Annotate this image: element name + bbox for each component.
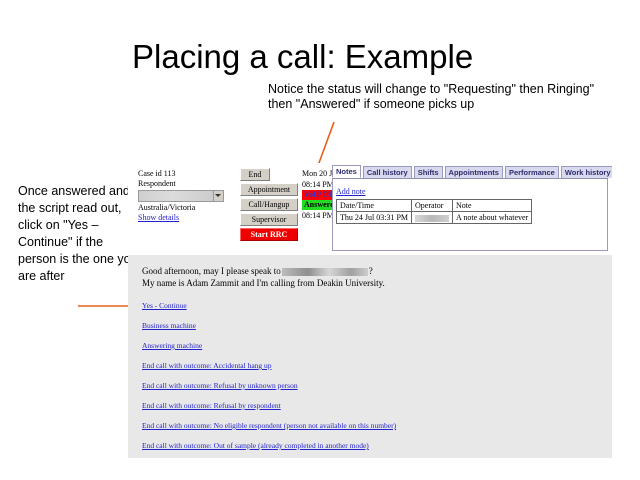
tab-performance[interactable]: Performance	[505, 166, 559, 178]
start-rec-button[interactable]: Start RRC	[240, 228, 298, 241]
show-details-link[interactable]: Show details	[138, 213, 179, 222]
cell-operator	[412, 212, 453, 224]
status-time-2: 08:14 PM	[302, 211, 334, 220]
call-control-buttons: End Appointment Call/Hangup Supervisor S…	[240, 168, 298, 243]
respondent-label: Respondent	[138, 179, 233, 189]
cell-note: A note about whatever	[453, 212, 532, 224]
column-header-datetime: Date/Time	[337, 200, 412, 212]
case-id-label: Case id 113	[138, 169, 233, 179]
redacted-operator	[415, 215, 449, 222]
tab-shifts[interactable]: Shifts	[414, 166, 443, 178]
end-button[interactable]: End	[240, 168, 270, 181]
tab-bar: Notes Call history Shifts Appointments P…	[332, 166, 608, 179]
tab-appointments[interactable]: Appointments	[445, 166, 503, 178]
tab-call-history[interactable]: Call history	[363, 166, 412, 178]
call-hangup-button[interactable]: Call/Hangup	[240, 198, 298, 211]
respondent-select[interactable]	[138, 190, 224, 202]
table-row[interactable]: Thu 24 Jul 03:31 PM A note about whateve…	[337, 212, 532, 224]
link-no-eligible-respondent[interactable]: End call with outcome: No eligible respo…	[142, 421, 396, 430]
appointment-button[interactable]: Appointment	[240, 183, 298, 196]
column-header-note: Note	[453, 200, 532, 212]
notes-panel: Notes Call history Shifts Appointments P…	[332, 166, 608, 252]
screenshot-toolbar-area: Case id 113 Respondent Australia/Victori…	[128, 163, 612, 255]
script-line-1-after: ?	[369, 266, 373, 276]
tab-notes[interactable]: Notes	[332, 165, 361, 178]
outcome-links-list: Yes - Continue Business machine Answerin…	[142, 301, 396, 458]
add-note-link[interactable]: Add note	[336, 187, 366, 196]
script-line-2: My name is Adam Zammit and I'm calling f…	[142, 278, 385, 288]
cell-datetime: Thu 24 Jul 03:31 PM	[337, 212, 412, 224]
annotation-status-change: Notice the status will change to "Reques…	[268, 82, 608, 112]
annotation-yes-continue: Once answered and the script read out, c…	[18, 183, 138, 285]
timezone-label: Australia/Victoria	[138, 203, 233, 213]
status-time-1: 08:14 PM	[302, 180, 334, 189]
script-line-1-before: Good afternoon, may I please speak to	[142, 266, 281, 276]
column-header-operator: Operator	[412, 200, 453, 212]
link-yes-continue[interactable]: Yes - Continue	[142, 301, 396, 310]
link-refusal-respondent[interactable]: End call with outcome: Refusal by respon…	[142, 401, 396, 410]
embedded-screenshot: Case id 113 Respondent Australia/Victori…	[128, 163, 612, 458]
tab-work-history[interactable]: Work history	[561, 166, 612, 178]
link-out-of-sample[interactable]: End call with outcome: Out of sample (al…	[142, 441, 396, 450]
script-area: Good afternoon, may I please speak to? M…	[128, 255, 612, 458]
link-business-machine[interactable]: Business machine	[142, 321, 396, 330]
link-refusal-unknown-person[interactable]: End call with outcome: Refusal by unknow…	[142, 381, 396, 390]
chevron-down-icon	[215, 194, 221, 197]
notes-table: Date/Time Operator Note Thu 24 Jul 03:31…	[336, 199, 532, 224]
link-answering-machine[interactable]: Answering machine	[142, 341, 396, 350]
case-info-panel: Case id 113 Respondent Australia/Victori…	[138, 169, 233, 223]
link-accidental-hangup[interactable]: End call with outcome: Accidental hang u…	[142, 361, 396, 370]
page-title: Placing a call: Example	[132, 38, 473, 76]
script-text: Good afternoon, may I please speak to? M…	[142, 265, 385, 289]
table-header-row: Date/Time Operator Note	[337, 200, 532, 212]
supervisor-button[interactable]: Supervisor	[240, 213, 298, 226]
redacted-respondent-name	[282, 268, 368, 276]
notes-content: Add note Date/Time Operator Note Thu 24 …	[332, 179, 608, 251]
